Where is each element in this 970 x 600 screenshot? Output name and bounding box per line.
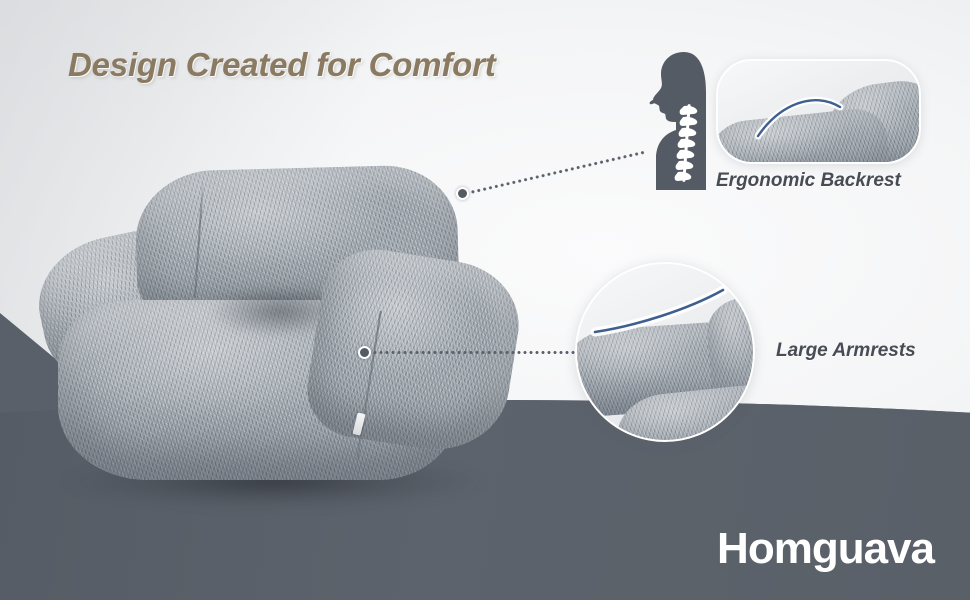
callout-dot-armrest <box>358 346 371 359</box>
brand-logo: Homguava <box>717 524 934 574</box>
feature-label-large-armrests: Large Armrests <box>776 340 916 362</box>
leader-line-armrest <box>372 351 582 354</box>
feature-label-ergonomic-backrest: Ergonomic Backrest <box>716 170 901 192</box>
product-image <box>28 160 528 520</box>
inset-backrest-closeup <box>716 59 921 164</box>
product-feature-banner: Design Created for Comfort <box>0 0 970 600</box>
inset-armrest-closeup <box>575 262 755 442</box>
spine-posture-icon <box>644 48 720 190</box>
page-title: Design Created for Comfort <box>68 46 496 84</box>
callout-dot-backrest <box>456 187 469 200</box>
